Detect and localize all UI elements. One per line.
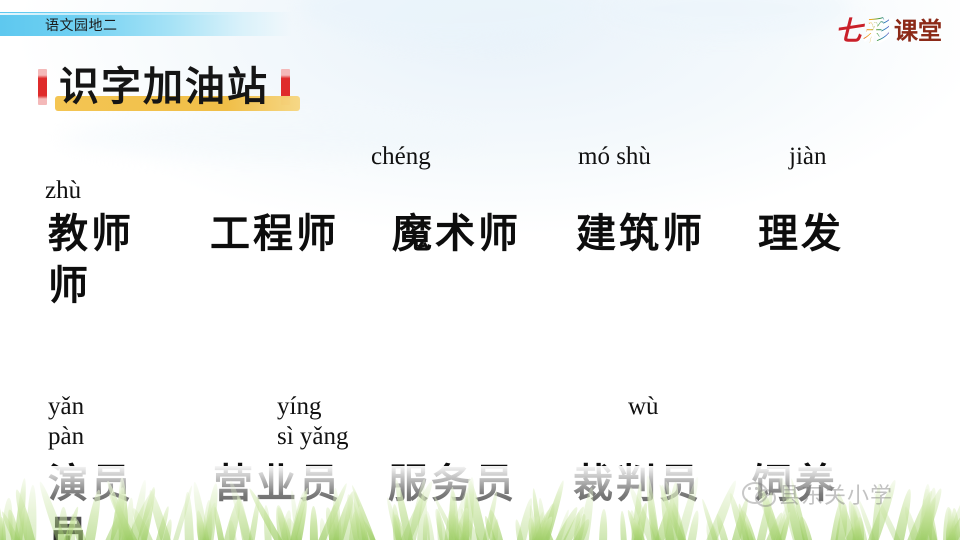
logo-text-ketang: 课堂 — [894, 11, 942, 46]
word-token: 演员 — [48, 458, 134, 510]
pinyin-token: jiàn — [789, 140, 827, 174]
section-title: 识字加油站 — [38, 62, 290, 112]
pinyin-line: chéng mó shù jiàn zhù — [0, 140, 960, 174]
word-token-wrapped: 员 — [48, 510, 91, 540]
word-token: 饲养 — [752, 458, 838, 510]
logo-char-cai: 彩 — [863, 9, 889, 48]
breadcrumb-lesson-title: 语文园地二 — [45, 14, 118, 36]
header-bar — [0, 12, 292, 36]
word-token: 裁判员 — [573, 458, 702, 510]
pinyin-token: pàn — [48, 420, 84, 454]
word-group-professions-shi: chéng mó shù jiàn zhù 教师 工程师 魔术师 建筑师 理发 … — [0, 140, 960, 318]
logo-char-qi: 七 — [835, 9, 861, 48]
slide-canvas: 语文园地二 七 彩 课堂 识字加油站 chéng mó shù jiàn zhù… — [0, 0, 960, 540]
word-token: 教师 — [48, 208, 134, 260]
word-line: 演员 营业员 服务员 裁判员 饲养 员 — [0, 458, 960, 540]
word-token: 理发 — [758, 208, 844, 260]
word-token: 工程师 — [210, 208, 339, 260]
word-token-wrapped: 师 — [48, 260, 91, 312]
word-line: 教师 工程师 魔术师 建筑师 理发 师 — [0, 208, 960, 318]
cloud-decoration — [300, 0, 600, 44]
word-token: 魔术师 — [392, 208, 521, 260]
pinyin-token: yǎn — [48, 390, 84, 424]
word-token: 服务员 — [388, 458, 517, 510]
word-token: 建筑师 — [576, 208, 705, 260]
pinyin-token: wù — [628, 390, 659, 424]
pinyin-token: chéng — [371, 140, 431, 174]
word-group-professions-yuan: yǎn yíng wù pàn sì yǎng 演员 营业员 服务员 裁判员 饲… — [0, 390, 960, 540]
cloud-decoration — [600, 0, 850, 38]
brand-logo: 七 彩 课堂 — [835, 8, 942, 48]
pinyin-token: yíng — [277, 390, 321, 424]
pinyin-token: sì yǎng — [277, 420, 349, 454]
pinyin-token: mó shù — [578, 140, 651, 174]
section-title-text: 识字加油站 — [59, 64, 269, 110]
header-bar-highlight — [0, 13, 250, 15]
pinyin-token: zhù — [45, 174, 81, 208]
title-bar-left-icon — [38, 69, 47, 105]
pinyin-line: yǎn yíng wù pàn sì yǎng — [0, 390, 960, 452]
word-token: 营业员 — [213, 458, 342, 510]
